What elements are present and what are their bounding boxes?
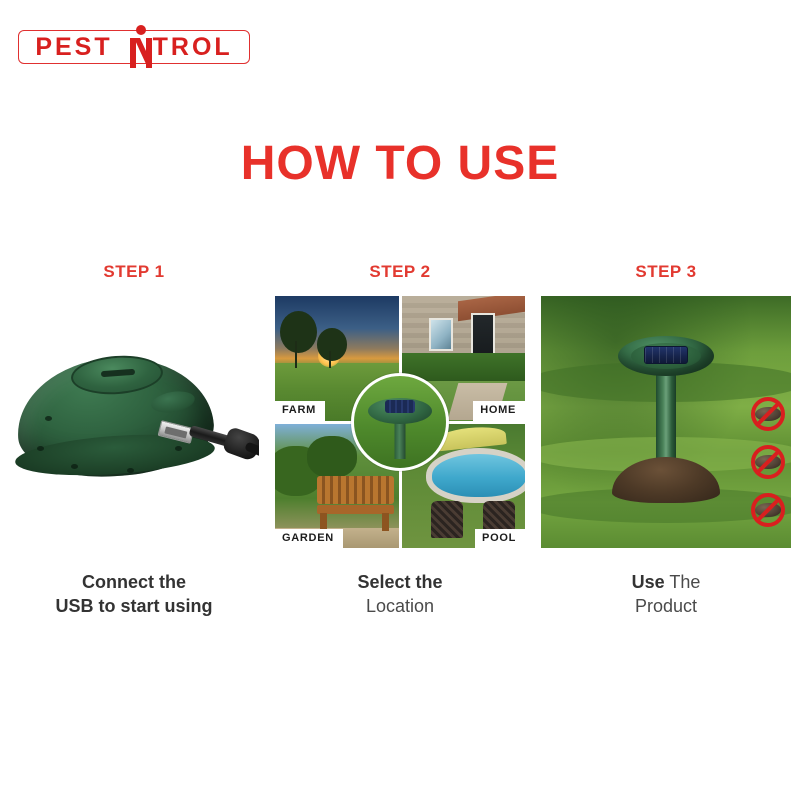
logo-text-left: PEST [35, 35, 112, 60]
farm-tree-trunk [295, 341, 297, 368]
step-2-caption-line2: Location [357, 594, 442, 618]
step-2-caption-line1: Select the [357, 570, 442, 594]
farm-tree-crown [317, 328, 347, 360]
step-2: STEP 2 FARM [267, 262, 533, 619]
step-3-caption-line1: Use The [632, 570, 701, 594]
grid-label-garden: GARDEN [275, 529, 343, 548]
logo-text-right: TROL [153, 35, 233, 60]
device-screw [127, 468, 134, 473]
step-1-label: STEP 1 [103, 262, 164, 282]
step-1-caption-line1: Connect the [55, 570, 212, 594]
device-cap [618, 336, 714, 376]
step-3: STEP 3 [533, 262, 799, 619]
house-window [429, 318, 454, 350]
step-3-caption-regular: The [669, 572, 700, 592]
pool-chair [431, 501, 463, 538]
no-rat-icon [751, 493, 785, 527]
product-center-inset [351, 373, 449, 471]
grid-label-pool: POOL [475, 529, 525, 548]
garden-bush [307, 436, 356, 478]
pest-icon-list [751, 397, 785, 527]
step-1-caption-line2: USB to start using [55, 594, 212, 618]
solar-panel-icon [644, 346, 688, 364]
step-3-caption: Use The Product [632, 570, 701, 619]
pool-water [426, 448, 525, 503]
no-mole-icon [751, 397, 785, 431]
farm-tree-trunk [329, 351, 331, 368]
grid-label-farm: FARM [275, 401, 325, 420]
lawn-scene [541, 296, 791, 548]
step-2-label: STEP 2 [369, 262, 430, 282]
farm-tree-crown [280, 311, 317, 353]
device-screw [71, 464, 78, 469]
brand-logo[interactable]: PEST TROL [18, 24, 256, 70]
device-screw [175, 446, 182, 451]
garden-bench [317, 476, 394, 531]
step-1-caption: Connect the USB to start using [55, 570, 212, 619]
step-3-image [541, 296, 791, 548]
step-3-caption-line2: Product [632, 594, 701, 618]
step-2-caption: Select the Location [357, 570, 442, 619]
page-title: HOW TO USE [0, 136, 800, 191]
solar-stake-device [618, 336, 714, 376]
usb-product-illustration [9, 296, 259, 548]
person-n-icon [121, 24, 161, 70]
device-screw [45, 416, 52, 421]
inset-solar-panel [385, 400, 415, 413]
step-2-image: FARM HOME [275, 296, 525, 548]
step-3-label: STEP 3 [635, 262, 696, 282]
no-gopher-icon [751, 445, 785, 479]
step-1-image [9, 296, 259, 548]
bench-back [317, 476, 394, 504]
grid-label-home: HOME [473, 401, 525, 420]
step-1: STEP 1 Connect the USB to start [1, 262, 267, 619]
bench-leg [382, 513, 389, 531]
steps-row: STEP 1 Connect the USB to start [0, 262, 800, 619]
step-3-caption-bold: Use [632, 572, 665, 592]
device-screw [37, 446, 44, 451]
